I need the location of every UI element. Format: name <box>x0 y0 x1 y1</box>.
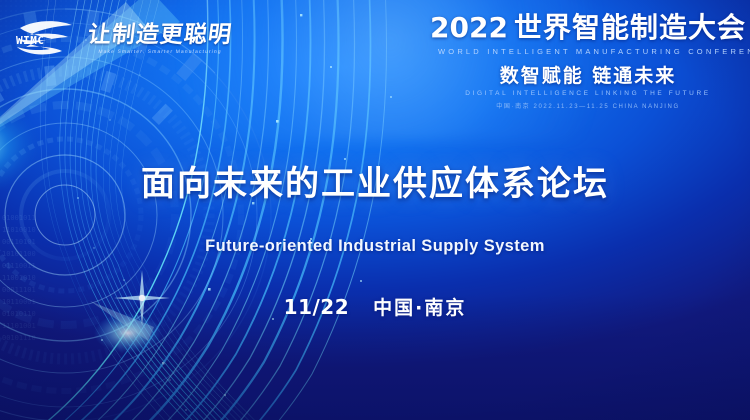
slogan-chinese: 让制造更聪明 <box>87 23 234 47</box>
conference-tagline-en: DIGITAL INTELLIGENCE LINKING THE FUTURE <box>438 90 738 97</box>
conference-where-when: 中国·南京 2022.11.23—11.25 CHINA NANJING <box>438 101 738 110</box>
logo-lockup[interactable]: WIMC 让制造更聪明 Make Smarter, Smarter Manufa… <box>14 16 232 60</box>
forum-location: 中国·南京 <box>373 293 466 320</box>
forum-meta-line: 11/22 中国·南京 <box>0 293 750 320</box>
conference-identity: 2022 世界智能制造大会 WORLD INTELLIGENT MANUFACT… <box>438 6 738 110</box>
forum-title-cn: 面向未来的工业供应体系论坛 <box>0 156 750 205</box>
wimc-logo-mark[interactable]: WIMC <box>14 16 78 60</box>
wimc-wordmark: WIMC <box>16 34 45 47</box>
conference-name-line: 2022 世界智能制造大会 <box>438 6 738 46</box>
conference-year: 2022 <box>430 11 508 44</box>
forum-date: 11/22 <box>284 295 349 319</box>
conference-name-cn: 世界智能制造大会 <box>514 6 746 46</box>
conference-name-en: WORLD INTELLIGENT MANUFACTURING CONFEREN… <box>438 47 738 56</box>
slogan-english: Make Smarter, Smarter Manufacturing <box>88 49 233 55</box>
forum-title-en: Future-oriented Industrial Supply System <box>0 237 750 256</box>
conference-banner: 0100101111010010 0011010110101100 011100… <box>0 0 750 420</box>
slogan-block: 让制造更聪明 Make Smarter, Smarter Manufacturi… <box>88 21 232 55</box>
conference-tagline-cn: 数智赋能 链通未来 <box>438 61 738 88</box>
